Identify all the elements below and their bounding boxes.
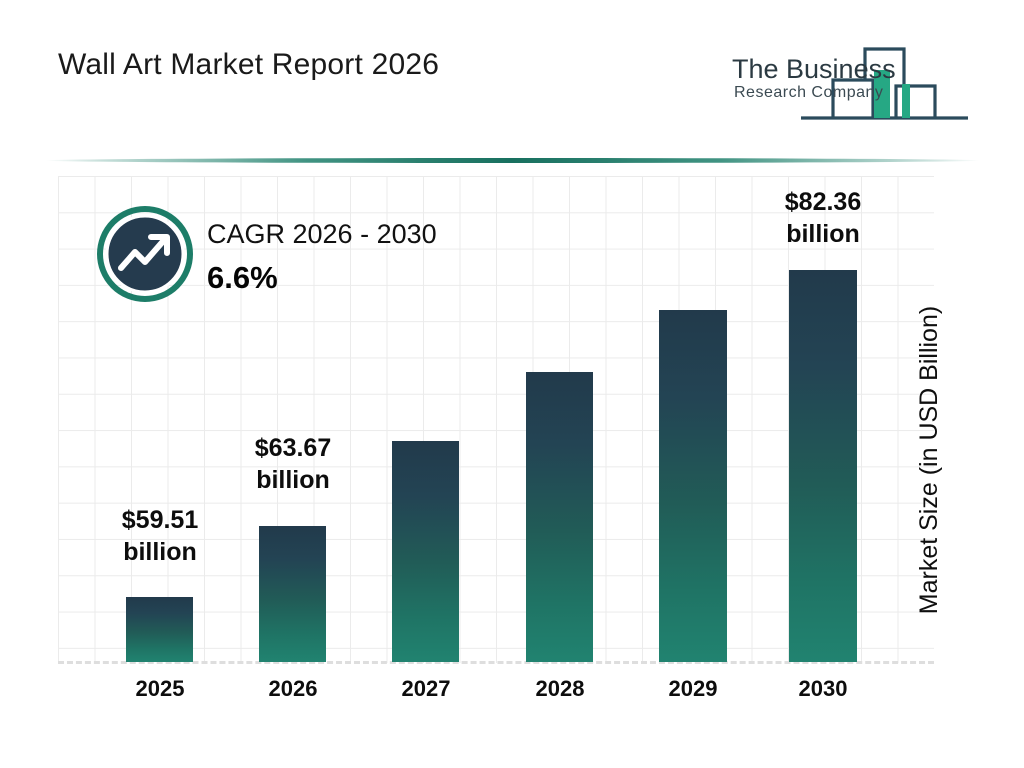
page-title: Wall Art Market Report 2026: [58, 48, 439, 82]
bar-2029[interactable]: [659, 310, 727, 662]
x-axis-label-2026: 2026: [243, 676, 343, 702]
trending-up-icon: [97, 206, 193, 302]
cagr-period-label: CAGR 2026 - 2030: [207, 219, 437, 250]
bar-2028[interactable]: [526, 372, 593, 662]
bar-value-label-2026: $63.67 billion: [193, 432, 393, 496]
bar-2026[interactable]: [259, 526, 326, 662]
bar-2027[interactable]: [392, 441, 459, 662]
bar-2030[interactable]: [789, 270, 857, 662]
bar-value-label-2025: $59.51 billion: [60, 504, 260, 568]
bar-value-amount-2026: $63.67: [255, 434, 331, 462]
cagr-badge: CAGR 2026 - 2030 6.6%: [97, 206, 487, 306]
y-axis-title-text: Market Size (in USD Billion): [915, 270, 944, 650]
x-axis-label-2029: 2029: [643, 676, 743, 702]
x-axis-label-2025: 2025: [110, 676, 210, 702]
bar-value-amount-2030: $82.36: [785, 188, 861, 216]
header-divider: [45, 158, 980, 163]
x-axis-label-2028: 2028: [510, 676, 610, 702]
cagr-value-label: 6.6%: [207, 260, 278, 296]
logo-text-line1: The Business: [732, 54, 896, 85]
bar-value-unit-2030: billion: [786, 220, 860, 248]
x-axis-label-2030: 2030: [773, 676, 873, 702]
y-axis-title: Market Size (in USD Billion): [893, 0, 922, 270]
bar-2025[interactable]: [126, 597, 193, 662]
x-axis-label-2027: 2027: [376, 676, 476, 702]
logo-text-line2: Research Company: [734, 84, 883, 102]
bar-value-unit-2026: billion: [256, 466, 330, 494]
bar-value-unit-2025: billion: [123, 538, 197, 566]
bar-value-amount-2025: $59.51: [122, 506, 198, 534]
company-logo: The Business Research Company: [728, 36, 974, 120]
